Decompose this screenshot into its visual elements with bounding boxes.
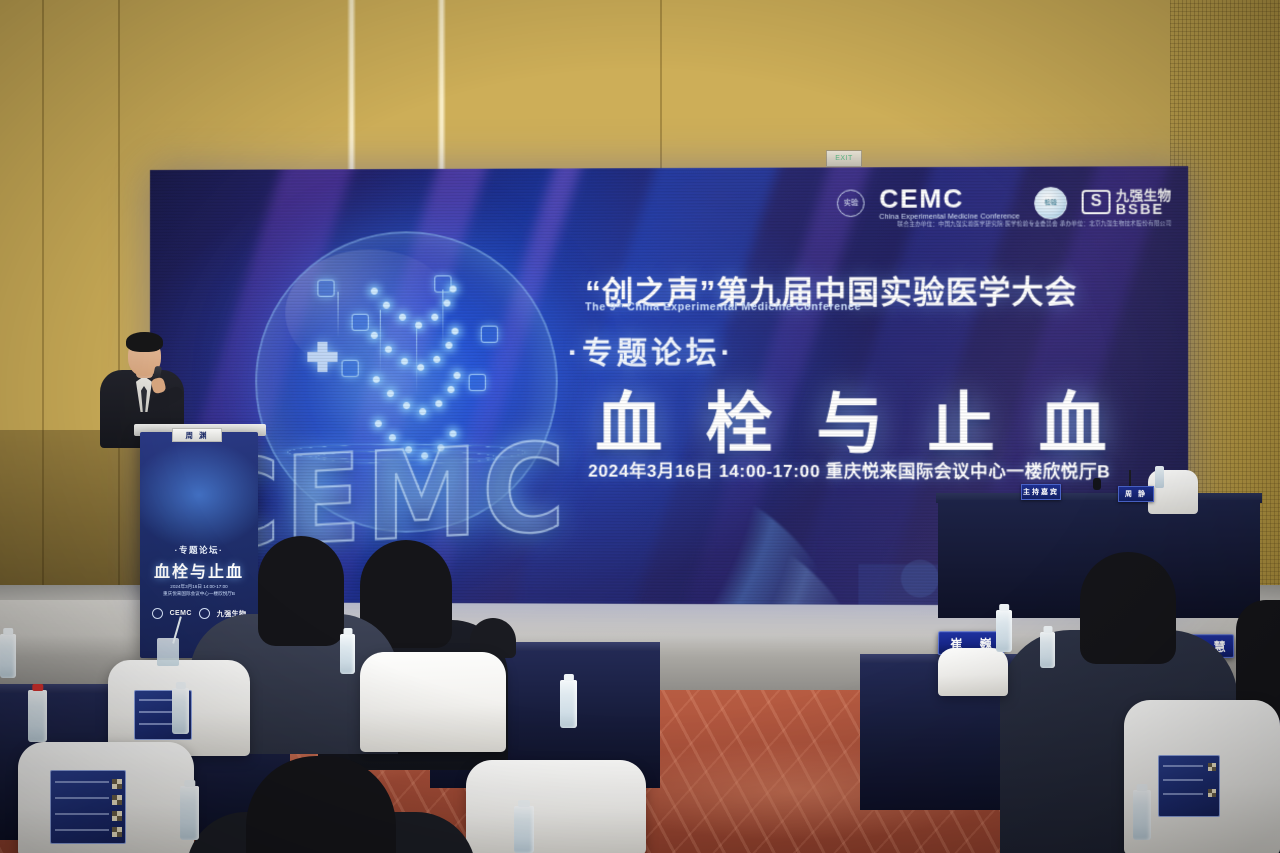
heart-monitor-icon bbox=[342, 360, 359, 377]
exit-sign: EXIT bbox=[826, 150, 862, 167]
cemc-wordmark-big: CEMC bbox=[879, 185, 1020, 212]
podium-topic: 血栓与止血 bbox=[140, 558, 258, 582]
wall-shadow bbox=[0, 430, 150, 610]
clipboard-icon bbox=[352, 314, 369, 331]
water-bottle bbox=[340, 634, 355, 674]
water-glass bbox=[157, 638, 179, 666]
cemc-seal-glyph: 实验 bbox=[844, 200, 858, 207]
bsbe-mark-icon: S bbox=[1082, 190, 1111, 214]
podium-forum-label: ·专题论坛· bbox=[140, 544, 258, 556]
podium-nameplate: 周 渊 bbox=[172, 428, 222, 442]
host-nameplate-label: 主持嘉宾 bbox=[1023, 487, 1059, 497]
guest-nameplate-zhoujing: 周 静 bbox=[1118, 486, 1154, 502]
water-bottle bbox=[1133, 790, 1151, 840]
audience-chair bbox=[360, 652, 506, 752]
guest-nameplate-zhoujing-label: 周 静 bbox=[1125, 489, 1147, 499]
cemc-seal-icon: 实验 bbox=[837, 190, 865, 217]
audience-chair bbox=[466, 760, 646, 853]
podium-datetime-line1: 2024年3月16日 14:00-17:00 bbox=[140, 584, 258, 591]
podium-datetime-line2: 重庆悦来国际会议中心一楼欣悦厅B bbox=[140, 591, 258, 598]
banner-topic: 血 栓 与 止 血 bbox=[595, 370, 1119, 468]
speaker-hair bbox=[126, 332, 163, 352]
podium-datetime: 2024年3月16日 14:00-17:00 重庆悦来国际会议中心一楼欣悦厅B bbox=[140, 584, 258, 598]
association-emblem-icon: 检验 bbox=[1034, 186, 1067, 219]
exit-sign-label: EXIT bbox=[835, 155, 853, 162]
head-table-gooseneck-mic bbox=[1129, 470, 1131, 486]
water-bottle bbox=[560, 680, 577, 728]
podium-emblem-icon bbox=[199, 608, 210, 619]
stage-chair bbox=[938, 648, 1008, 696]
podium-seal-icon bbox=[152, 608, 163, 619]
microscope-icon bbox=[469, 374, 486, 391]
cemc-wordmark: CEMC China Experimental Medicine Confere… bbox=[879, 185, 1020, 221]
chair-info-card bbox=[1158, 755, 1220, 817]
water-bottle bbox=[1040, 632, 1055, 668]
audience-head bbox=[258, 536, 344, 646]
banner-datetime-venue: 2024年3月16日 14:00-17:00 重庆悦来国际会议中心一楼欣悦厅B bbox=[588, 457, 1110, 483]
water-bottle bbox=[172, 688, 189, 734]
audience-head bbox=[1080, 552, 1176, 664]
organizer-line: 联合主办单位：中国九强实验医学研究院·医学检验专业委员会 承办单位：北京九强生物… bbox=[897, 219, 1171, 228]
podium-nameplate-label: 周 渊 bbox=[185, 430, 208, 441]
water-bottle bbox=[514, 806, 534, 853]
banner-forum-label: ·专题论坛· bbox=[568, 327, 735, 371]
water-bottle bbox=[180, 786, 199, 840]
conference-photo-scene: EXIT bbox=[0, 0, 1280, 853]
head-table-microphone bbox=[1093, 478, 1101, 490]
association-emblem-glyph: 检验 bbox=[1044, 200, 1056, 206]
banner-logo-row: 实验 CEMC China Experimental Medicine Conf… bbox=[837, 184, 1171, 221]
water-bottle bbox=[28, 690, 47, 742]
virus-icon bbox=[317, 280, 334, 297]
chair-info-card bbox=[50, 770, 126, 844]
medical-cross-icon bbox=[307, 342, 337, 372]
head-table-bottle bbox=[1155, 466, 1164, 488]
bsbe-logo-en: BSBE bbox=[1116, 202, 1172, 217]
banner-subtitle-en: The 9ᵗʰ China Experimental Medicine Conf… bbox=[585, 301, 861, 313]
water-bottle bbox=[996, 610, 1012, 652]
water-bottle bbox=[0, 634, 16, 678]
flask-icon bbox=[481, 326, 498, 343]
bsbe-logo: S 九强生物 BSBE bbox=[1082, 188, 1172, 216]
host-nameplate: 主持嘉宾 bbox=[1021, 484, 1061, 500]
